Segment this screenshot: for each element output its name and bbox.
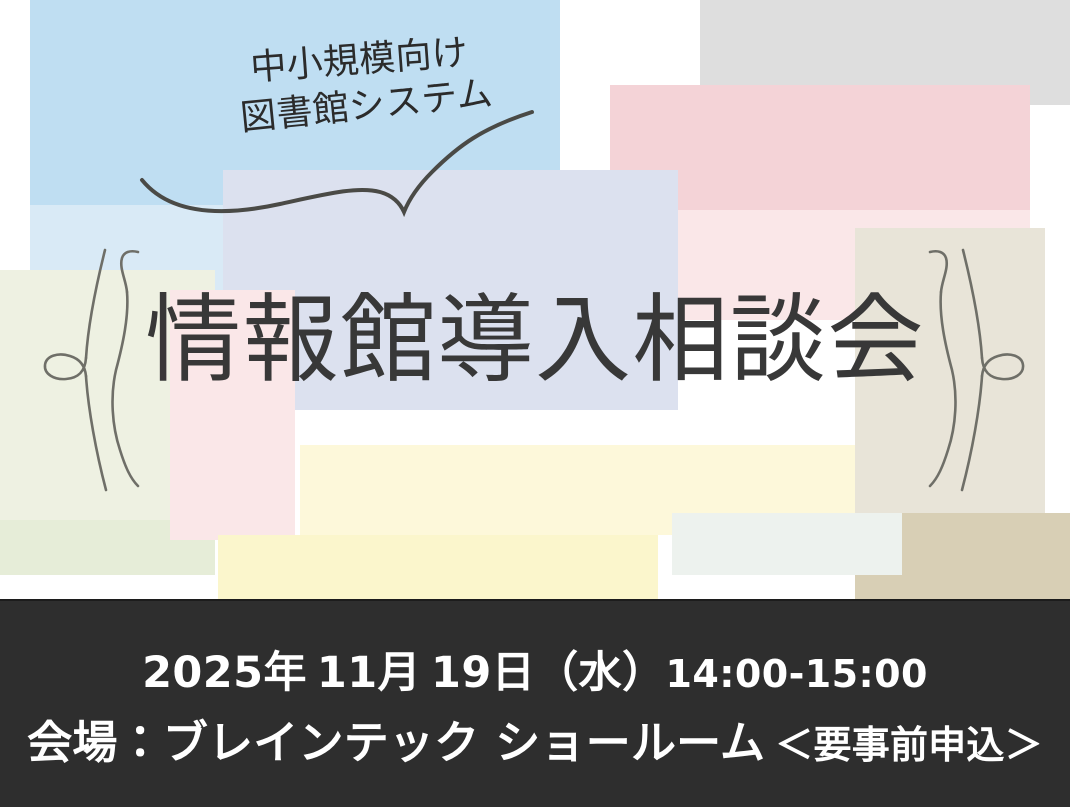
event-year: 2025年 [142, 648, 307, 698]
reservation-note: ＜要事前申込＞ [775, 723, 1043, 767]
event-info-bar: 2025年11月19日（水）14:00-15:00 会場：ブレインテック ショー… [0, 599, 1070, 807]
event-weekday: （水） [535, 648, 665, 698]
page-title: 情報館導入相談会 [0, 292, 1070, 388]
event-month: 11月 [317, 648, 421, 698]
event-venue-line: 会場：ブレインテック ショールーム＜要事前申込＞ [27, 706, 1043, 771]
venue-name: ブレインテック ショールーム [163, 716, 765, 769]
venue-label: 会場： [27, 716, 163, 769]
event-day: 19日 [431, 648, 535, 698]
color-block-yellow-deep-bottom [218, 535, 658, 605]
event-time: 14:00-15:00 [665, 652, 927, 696]
event-poster: 中小規模向け 図書館システム 情報館導入相談会 2025年11月19日（水）14… [0, 0, 1070, 807]
event-date-line: 2025年11月19日（水）14:00-15:00 [142, 638, 928, 700]
color-block-mint-bottom [672, 513, 902, 575]
